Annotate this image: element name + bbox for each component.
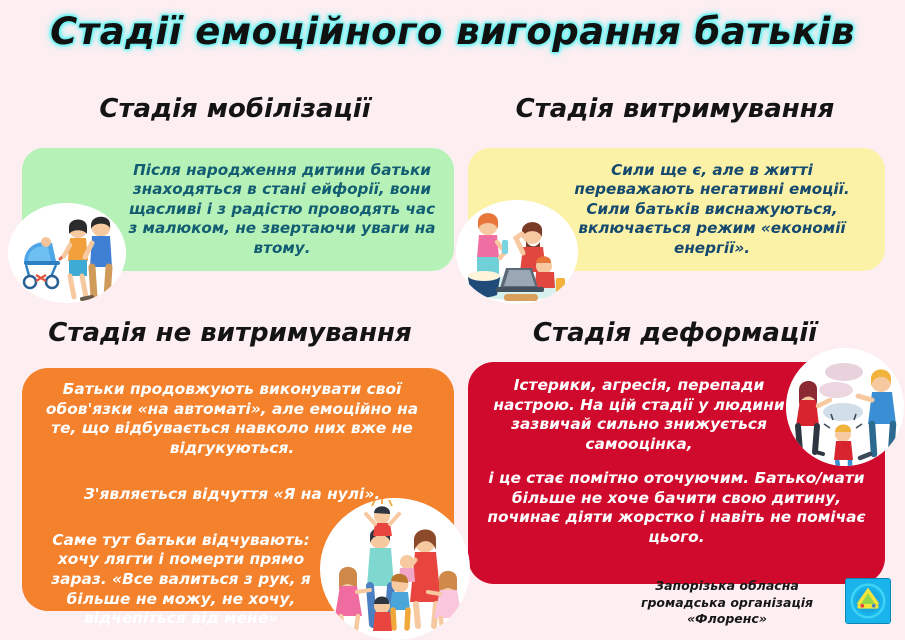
busy-parents-cooking-laptop-illustration bbox=[456, 200, 578, 304]
footer-organization: Запорізька обласна громадська організаці… bbox=[612, 578, 842, 628]
card-non-endurance-text-1: Батьки продовжують виконувати свої обов'… bbox=[22, 368, 442, 459]
card-non-endurance-text-3: Саме тут батьки відчувають: хочу лягти і… bbox=[22, 519, 340, 630]
section-heading-endurance: Стадія витримування bbox=[460, 94, 890, 124]
section-heading-mobilization: Стадія мобілізації bbox=[20, 94, 450, 124]
card-deformation-text-1: Істерики, агресія, перепади настрою. На … bbox=[468, 362, 798, 455]
footer-line-1: Запорізька обласна bbox=[612, 578, 842, 595]
card-deformation-text-2: і це стає помітно оточуючим. Батько/мати… bbox=[468, 455, 873, 548]
card-endurance-text: Сили ще є, але в житті переважають негат… bbox=[555, 161, 885, 258]
footer-line-3: «Флоренс» bbox=[612, 611, 842, 628]
footer-line-2: громадська організація bbox=[612, 595, 842, 612]
overwhelmed-parents-many-children-illustration bbox=[320, 498, 470, 640]
florens-logo bbox=[845, 578, 891, 624]
card-mobilization-text: Після народження дитини батьки знаходять… bbox=[124, 161, 454, 258]
section-heading-non-endurance: Стадія не витримування bbox=[10, 318, 450, 348]
section-heading-deformation: Стадія деформації bbox=[460, 318, 890, 348]
arguing-parents-child-illustration bbox=[786, 348, 904, 466]
infographic-page: Стадії емоційного вигорання батьків Стад… bbox=[0, 0, 905, 640]
parents-with-stroller-illustration bbox=[8, 203, 126, 303]
page-title: Стадії емоційного вигорання батьків bbox=[0, 10, 905, 53]
